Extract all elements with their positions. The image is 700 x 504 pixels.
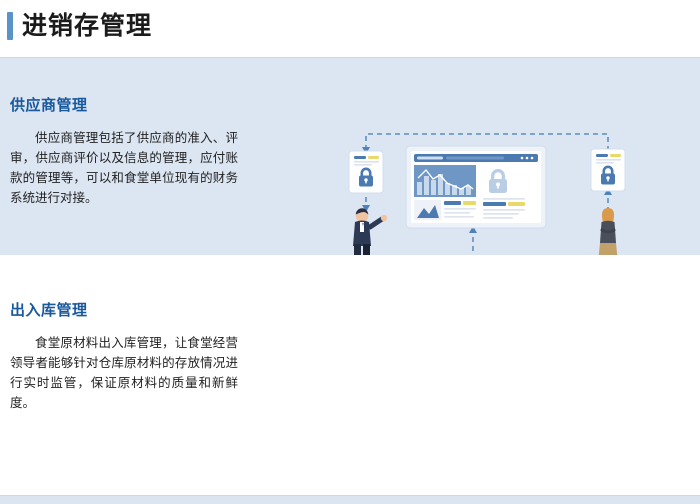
section-inventory-body: 食堂原材料出入库管理，让食堂经营领导者能够针对仓库原材料的存放情况进行实时监管，… bbox=[10, 333, 238, 413]
footer-strip bbox=[0, 495, 700, 504]
document-card-lock-left bbox=[349, 151, 383, 193]
page-header: 进销存管理 bbox=[0, 0, 700, 56]
bar-line-chart-panel bbox=[414, 165, 476, 197]
page-title: 进销存管理 bbox=[22, 10, 152, 42]
page-root: 进销存管理 供应商管理 供应商管理包括了供应商的准入、评审，供应商评价以及信息的… bbox=[0, 0, 700, 504]
lock-panel bbox=[480, 165, 538, 220]
section-supplier: 供应商管理 供应商管理包括了供应商的准入、评审，供应商评价以及信息的管理，应付账… bbox=[0, 57, 700, 256]
section-inventory-heading: 出入库管理 bbox=[10, 299, 88, 320]
header-accent-bar bbox=[7, 12, 13, 40]
section-supplier-body: 供应商管理包括了供应商的准入、评审，供应商评价以及信息的管理，应付账款的管理等，… bbox=[10, 128, 238, 208]
dashboard-browser-window bbox=[406, 146, 546, 228]
section-inventory: 出入库管理 食堂原材料出入库管理，让食堂经营领导者能够针对仓库原材料的存放情况进… bbox=[0, 255, 700, 497]
section-supplier-heading: 供应商管理 bbox=[10, 94, 88, 115]
document-card-lock-right bbox=[591, 149, 625, 191]
